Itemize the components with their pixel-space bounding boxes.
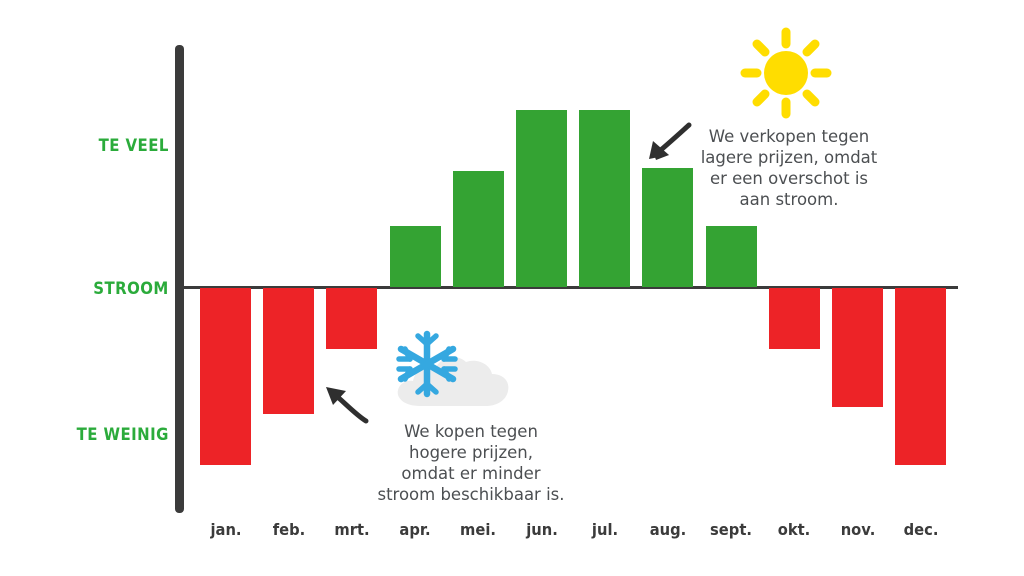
x-tick-label-mei: mei.	[441, 520, 515, 539]
x-tick-label-okt: okt.	[757, 520, 831, 539]
bar-apr	[390, 226, 441, 287]
annotation-shortage-text: We kopen tegen hogere prijzen, omdat er …	[371, 421, 571, 505]
bar-feb	[263, 288, 314, 414]
bar-mei	[453, 171, 504, 287]
bar-sept	[706, 226, 757, 287]
bar-aug	[642, 168, 693, 287]
chart-canvas: TE VEEL STROOM TE WEINIG jan.feb.mrt.apr…	[0, 0, 1024, 576]
arrow-up-left-icon	[322, 385, 370, 425]
bar-jun	[516, 110, 567, 287]
snow-cloud-icon	[382, 328, 514, 416]
bar-okt	[769, 288, 820, 349]
bar-nov	[832, 288, 883, 407]
bar-jul	[579, 110, 630, 287]
arrow-down-left-icon	[645, 122, 693, 162]
bar-dec	[895, 288, 946, 465]
bar-jan	[200, 288, 251, 465]
annotation-surplus-text: We verkopen tegen lagere prijzen, omdat …	[694, 126, 884, 210]
bar-mrt	[326, 288, 377, 349]
sun-icon	[737, 24, 835, 122]
x-tick-label-dec: dec.	[884, 520, 958, 539]
